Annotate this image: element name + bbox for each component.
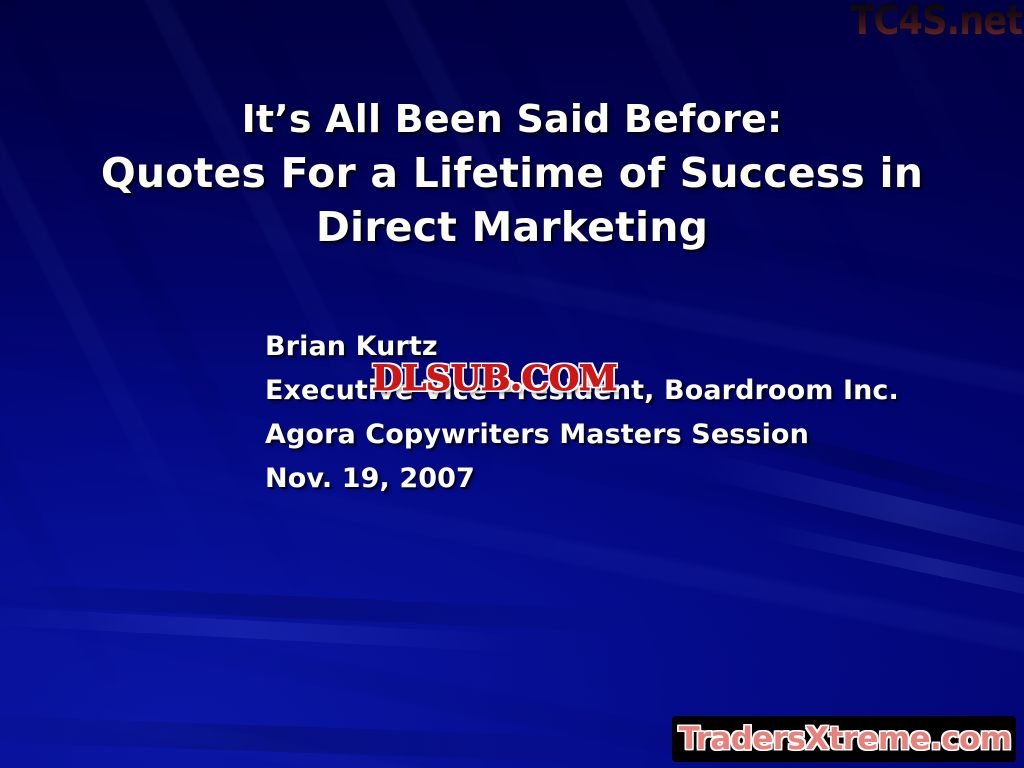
slide-body: Brian Kurtz Executive Vice President, Bo… — [265, 325, 985, 501]
event-name: Agora Copywriters Masters Session — [265, 413, 985, 457]
slide-title: It’s All Been Said Before: Quotes For a … — [0, 92, 1024, 254]
watermark-tc4s: TC4S.net — [850, 0, 1022, 44]
watermark-tradersxtreme: TradersXtreme.com — [678, 721, 1012, 757]
slide-title-line-1: It’s All Been Said Before: — [0, 92, 1024, 146]
event-date: Nov. 19, 2007 — [265, 457, 985, 501]
watermark-dlsub: DLSUB.COM — [372, 360, 617, 398]
slide-title-line-2: Quotes For a Lifetime of Success in — [0, 146, 1024, 200]
slide-title-line-3: Direct Marketing — [0, 200, 1024, 254]
presentation-slide: It’s All Been Said Before: Quotes For a … — [0, 0, 1024, 768]
